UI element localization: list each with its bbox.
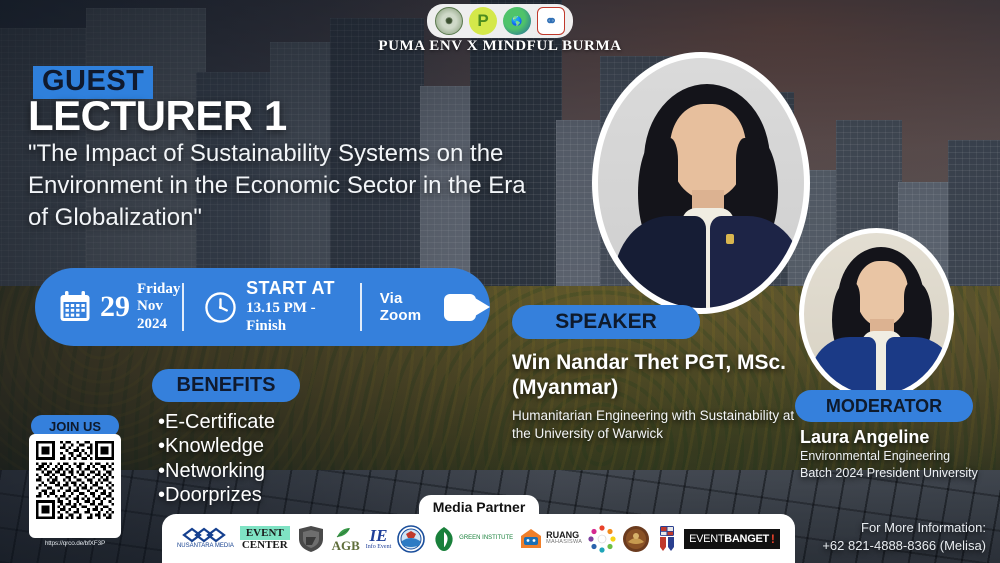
logo-caption: MAHASISWA	[546, 540, 582, 546]
page-title: LECTURER 1	[28, 92, 287, 140]
event-poster: ✺ P 🌎 ⚭ PUMA ENV X MINDFUL BURMA GUEST L…	[0, 0, 1000, 563]
organizer-name: PUMA ENV X MINDFUL BURMA	[378, 38, 621, 55]
moderator-affiliation: Environmental Engineering Batch 2024 Pre…	[800, 448, 980, 482]
contact-label: For More Information:	[766, 519, 986, 537]
ruang-mahasiswa-logo-icon: RUANG MAHASISWA	[519, 524, 582, 554]
speaker-badge: SPEAKER	[512, 305, 700, 339]
moderator-name: Laura Angeline	[800, 427, 1000, 448]
moderator-photo	[799, 228, 954, 400]
logo-caption: AGB	[332, 539, 360, 552]
list-item: •Networking	[158, 459, 275, 483]
clock-icon	[204, 291, 237, 324]
p-letter-logo-icon: P	[469, 7, 497, 35]
start-label: START AT	[246, 279, 344, 299]
bronze-medallion-logo-icon	[622, 524, 650, 554]
list-item: •Knowledge	[158, 434, 275, 458]
dark-shield-logo-icon	[296, 524, 326, 554]
info-event-ie-logo-icon: IE Info Event	[366, 524, 392, 554]
video-camera-icon	[444, 294, 490, 321]
colorful-people-logo-icon	[588, 524, 616, 554]
contact-info: For More Information: +62 821-4888-8366 …	[766, 519, 986, 554]
speaker-name: Win Nandar Thet PGT, MSc. (Myanmar)	[512, 350, 812, 400]
event-weekday: Friday	[137, 281, 182, 298]
puma-env-seal-logo-icon: ✺	[435, 7, 463, 35]
event-schedule-bar: 29 Friday Nov 2024 START AT 13.15 PM - F…	[35, 268, 490, 346]
date-segment: 29 Friday Nov 2024	[35, 268, 182, 346]
media-partner-bar: NUSANTARA MEDIA EVENT CENTER AGB IE Info…	[162, 514, 795, 563]
event-day: 29	[100, 292, 130, 322]
qr-code-icon[interactable]	[36, 441, 114, 519]
benefits-list: •E-Certificate •Knowledge •Networking •D…	[158, 410, 275, 508]
list-item: •E-Certificate	[158, 410, 275, 434]
calendar-icon	[59, 291, 91, 323]
organizer-logo-strip: ✺ P 🌎 ⚭	[427, 4, 573, 38]
green-institute-logo-icon: GREEN INSTITUTE	[431, 524, 513, 554]
platform-segment: Via Zoom	[362, 268, 490, 346]
agb-logo-icon: AGB	[332, 524, 360, 554]
contact-phone: +62 821-4888-8366 (Melisa)	[766, 537, 986, 555]
nusantara-media-logo-icon: NUSANTARA MEDIA	[177, 524, 234, 554]
circular-seal-logo-icon	[397, 524, 425, 554]
moderator-badge: MODERATOR	[795, 390, 973, 422]
event-month-year: Nov 2024	[137, 298, 182, 333]
benefits-title: BENEFITS	[152, 369, 300, 402]
globe-logo-icon: 🌎	[503, 7, 531, 35]
event-time: 13.15 PM - Finish	[246, 299, 344, 335]
event-date-text: Friday Nov 2024	[137, 281, 182, 333]
logo-caption: Info Event	[366, 544, 392, 550]
lecture-topic: "The Impact of Sustainability Systems on…	[28, 138, 548, 234]
event-center-logo-icon: EVENT CENTER	[240, 524, 290, 554]
list-item: •Doorprizes	[158, 483, 275, 507]
logo-caption: NUSANTARA MEDIA	[177, 543, 234, 549]
platform-label: Via Zoom	[380, 290, 436, 324]
red-blue-crest-logo-icon	[656, 524, 678, 554]
time-text: START AT 13.15 PM - Finish	[246, 279, 344, 335]
speaker-photo	[592, 52, 810, 314]
qr-url-text: https://qrco.de/bfXF3P	[29, 540, 121, 560]
time-segment: START AT 13.15 PM - Finish	[184, 268, 344, 346]
speaker-affiliation: Humanitarian Engineering with Sustainabi…	[512, 407, 802, 443]
qr-code-card[interactable]	[29, 434, 121, 538]
logo-caption: GREEN INSTITUTE	[459, 535, 513, 541]
mindful-burma-logo-icon: ⚭	[537, 7, 565, 35]
